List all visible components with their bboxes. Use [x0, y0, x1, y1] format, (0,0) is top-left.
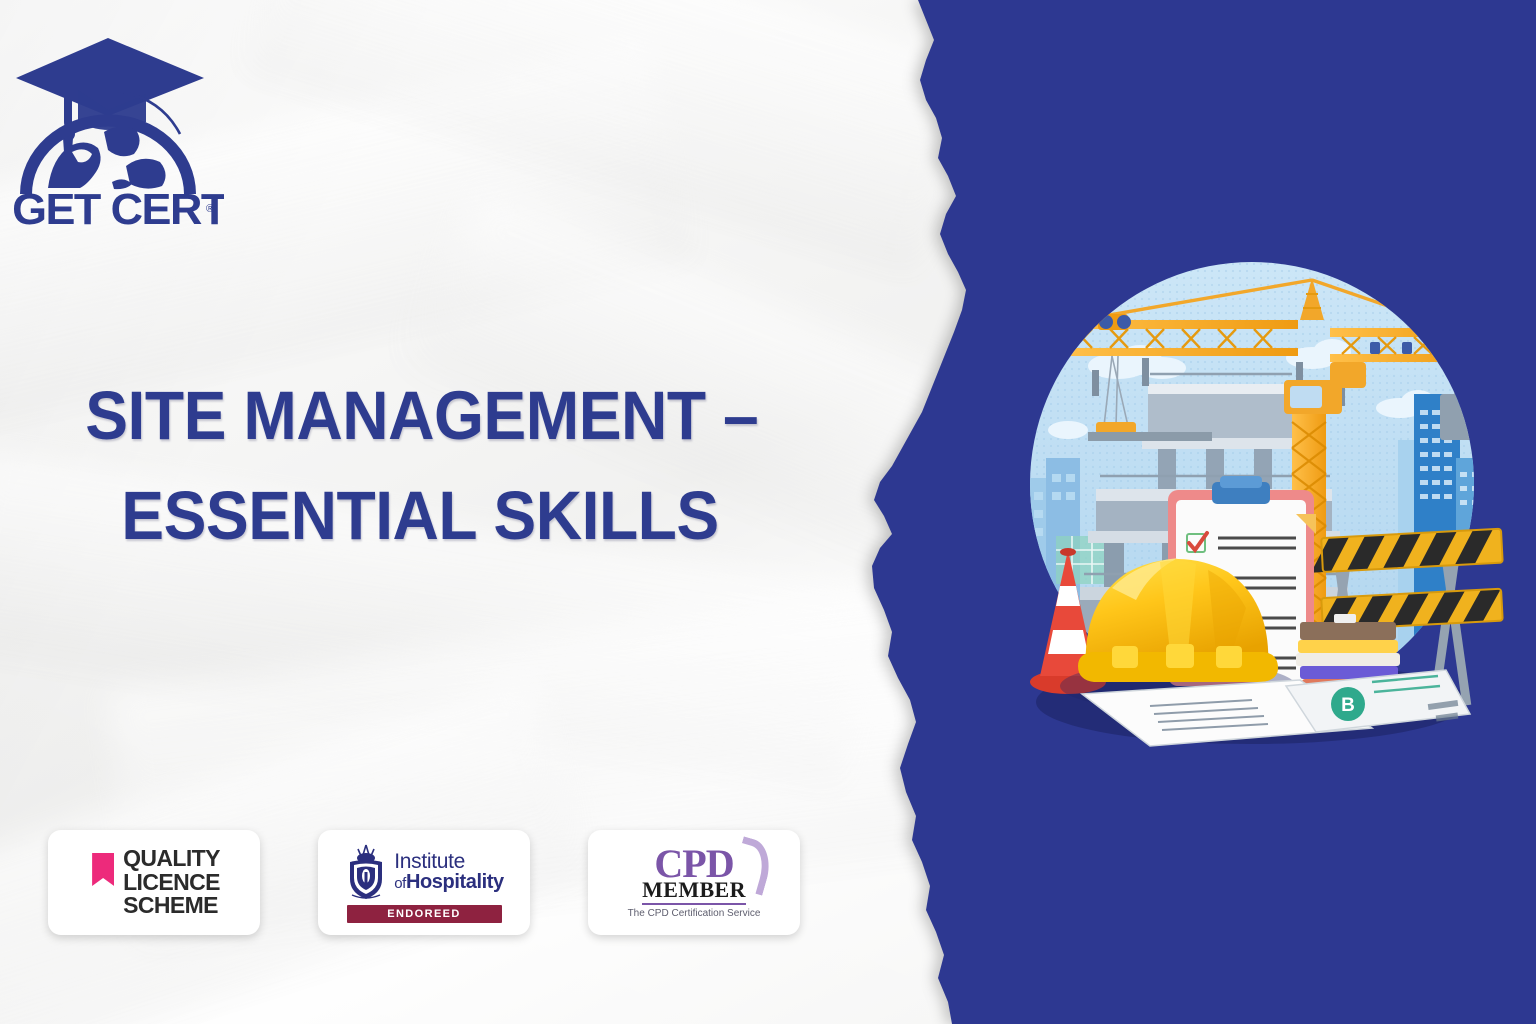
- cpd-swoosh-icon: [729, 836, 776, 895]
- brand-logo[interactable]: GET CERTIFY ®: [8, 26, 224, 226]
- ioh-word-of: of: [394, 875, 406, 892]
- ioh-word-institute: Institute: [394, 851, 504, 872]
- accreditation-badges: QUALITY LICENCE SCHEME: [48, 830, 800, 935]
- cpd-subtitle: The CPD Certification Service: [628, 908, 761, 920]
- title-line-2: ESSENTIAL SKILLS: [85, 466, 755, 566]
- qls-line-2: LICENCE: [123, 871, 220, 895]
- svg-text:B: B: [1341, 695, 1355, 716]
- logo-trademark: ®: [206, 203, 214, 215]
- ioh-endorsement-bar: ENDOREED: [347, 905, 502, 923]
- globe-icon: [20, 114, 196, 194]
- badge-cpd-member[interactable]: CPD MEMBER The CPD Certification Service: [588, 830, 800, 935]
- badge-institute-of-hospitality[interactable]: Institute ofHospitality ENDOREED: [318, 830, 530, 935]
- bookmark-ribbon-icon: [92, 853, 114, 886]
- title-line-1: SITE MANAGEMENT –: [85, 366, 755, 466]
- ioh-word-hospitality: Hospitality: [406, 871, 504, 893]
- heraldic-crest-icon: [344, 843, 388, 901]
- page-title: SITE MANAGEMENT – ESSENTIAL SKILLS: [85, 366, 755, 566]
- logo-wordmark: GET CERTIFY: [12, 185, 224, 226]
- qls-line-1: QUALITY: [123, 847, 220, 871]
- construction-site-illustration: B: [1000, 262, 1510, 762]
- badge-quality-licence-scheme[interactable]: QUALITY LICENCE SCHEME: [48, 830, 260, 935]
- qls-line-3: SCHEME: [123, 894, 220, 918]
- banner-stage: GET CERTIFY ® SITE MANAGEMENT – ESSENTIA…: [0, 0, 1536, 1024]
